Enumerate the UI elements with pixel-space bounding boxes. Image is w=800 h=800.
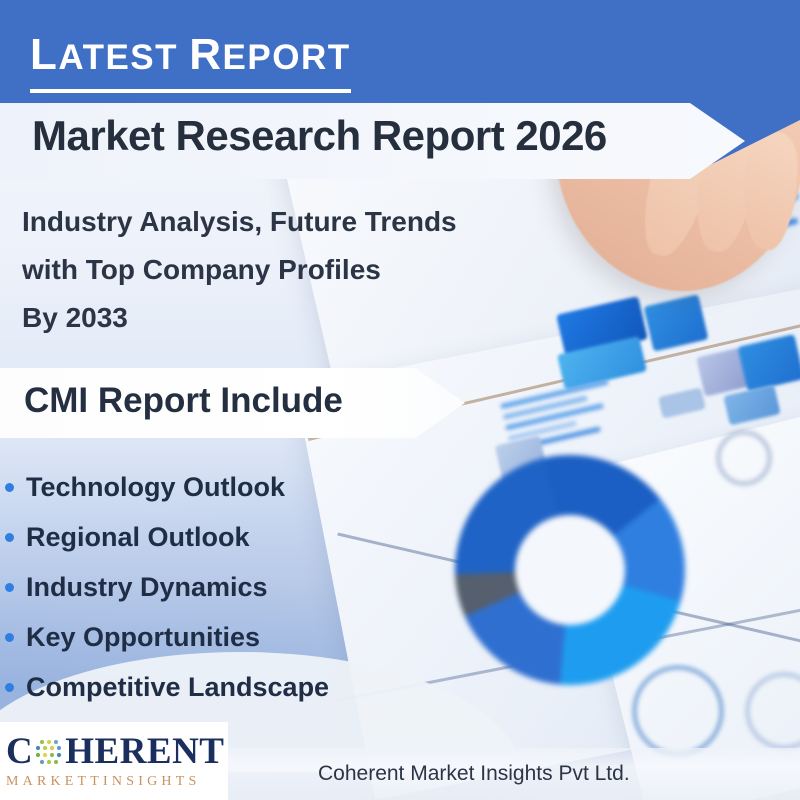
eyebrow-part-3: R (189, 30, 222, 79)
subtitle-block: Industry Analysis, Future Trends with To… (22, 198, 457, 342)
bullet-dot-icon (5, 583, 14, 592)
list-item: Competitive Landscape (0, 662, 329, 712)
logo-word-before: C (6, 733, 33, 770)
subtitle-line: with Top Company Profiles (22, 246, 457, 294)
eyebrow-part-1: L (30, 30, 58, 79)
list-item-label: Competitive Landscape (26, 672, 329, 703)
logo-tagline: MARKETTINSIGHTS (6, 774, 228, 790)
footer-company-name: Coherent Market Insights Pvt Ltd. (318, 762, 630, 786)
logo-dot-grid-icon (34, 738, 64, 768)
eyebrow-part-4: EPORT (223, 38, 351, 77)
list-item-label: Industry Dynamics (26, 572, 268, 603)
list-item: Technology Outlook (0, 462, 329, 512)
eyebrow-part-2: ATEST (58, 38, 178, 77)
subtitle-line: By 2033 (22, 294, 457, 342)
photo-ring-chart (632, 665, 724, 757)
photo-ring-chart (716, 430, 772, 486)
list-item: Regional Outlook (0, 512, 329, 562)
bullet-dot-icon (5, 533, 14, 542)
logo: C HERENT (0, 722, 228, 800)
bullet-dot-icon (5, 683, 14, 692)
logo-wordmark: C HERENT (6, 733, 228, 770)
page-title: Market Research Report 2026 (32, 112, 607, 160)
eyebrow-latest-report: LATEST REPORT (30, 30, 351, 93)
list-item: Key Opportunities (0, 612, 329, 662)
bullet-dot-icon (5, 633, 14, 642)
list-item-label: Regional Outlook (26, 522, 250, 553)
subtitle-line: Industry Analysis, Future Trends (22, 198, 457, 246)
section-banner-label: CMI Report Include (24, 381, 343, 421)
report-include-list: Technology Outlook Regional Outlook Indu… (0, 462, 329, 712)
list-item-label: Key Opportunities (26, 622, 260, 653)
report-poster: LATEST REPORT Market Research Report 202… (0, 0, 800, 800)
list-item: Industry Dynamics (0, 562, 329, 612)
bullet-dot-icon (5, 483, 14, 492)
list-item-label: Technology Outlook (26, 472, 285, 503)
logo-word-after: HERENT (65, 733, 224, 770)
